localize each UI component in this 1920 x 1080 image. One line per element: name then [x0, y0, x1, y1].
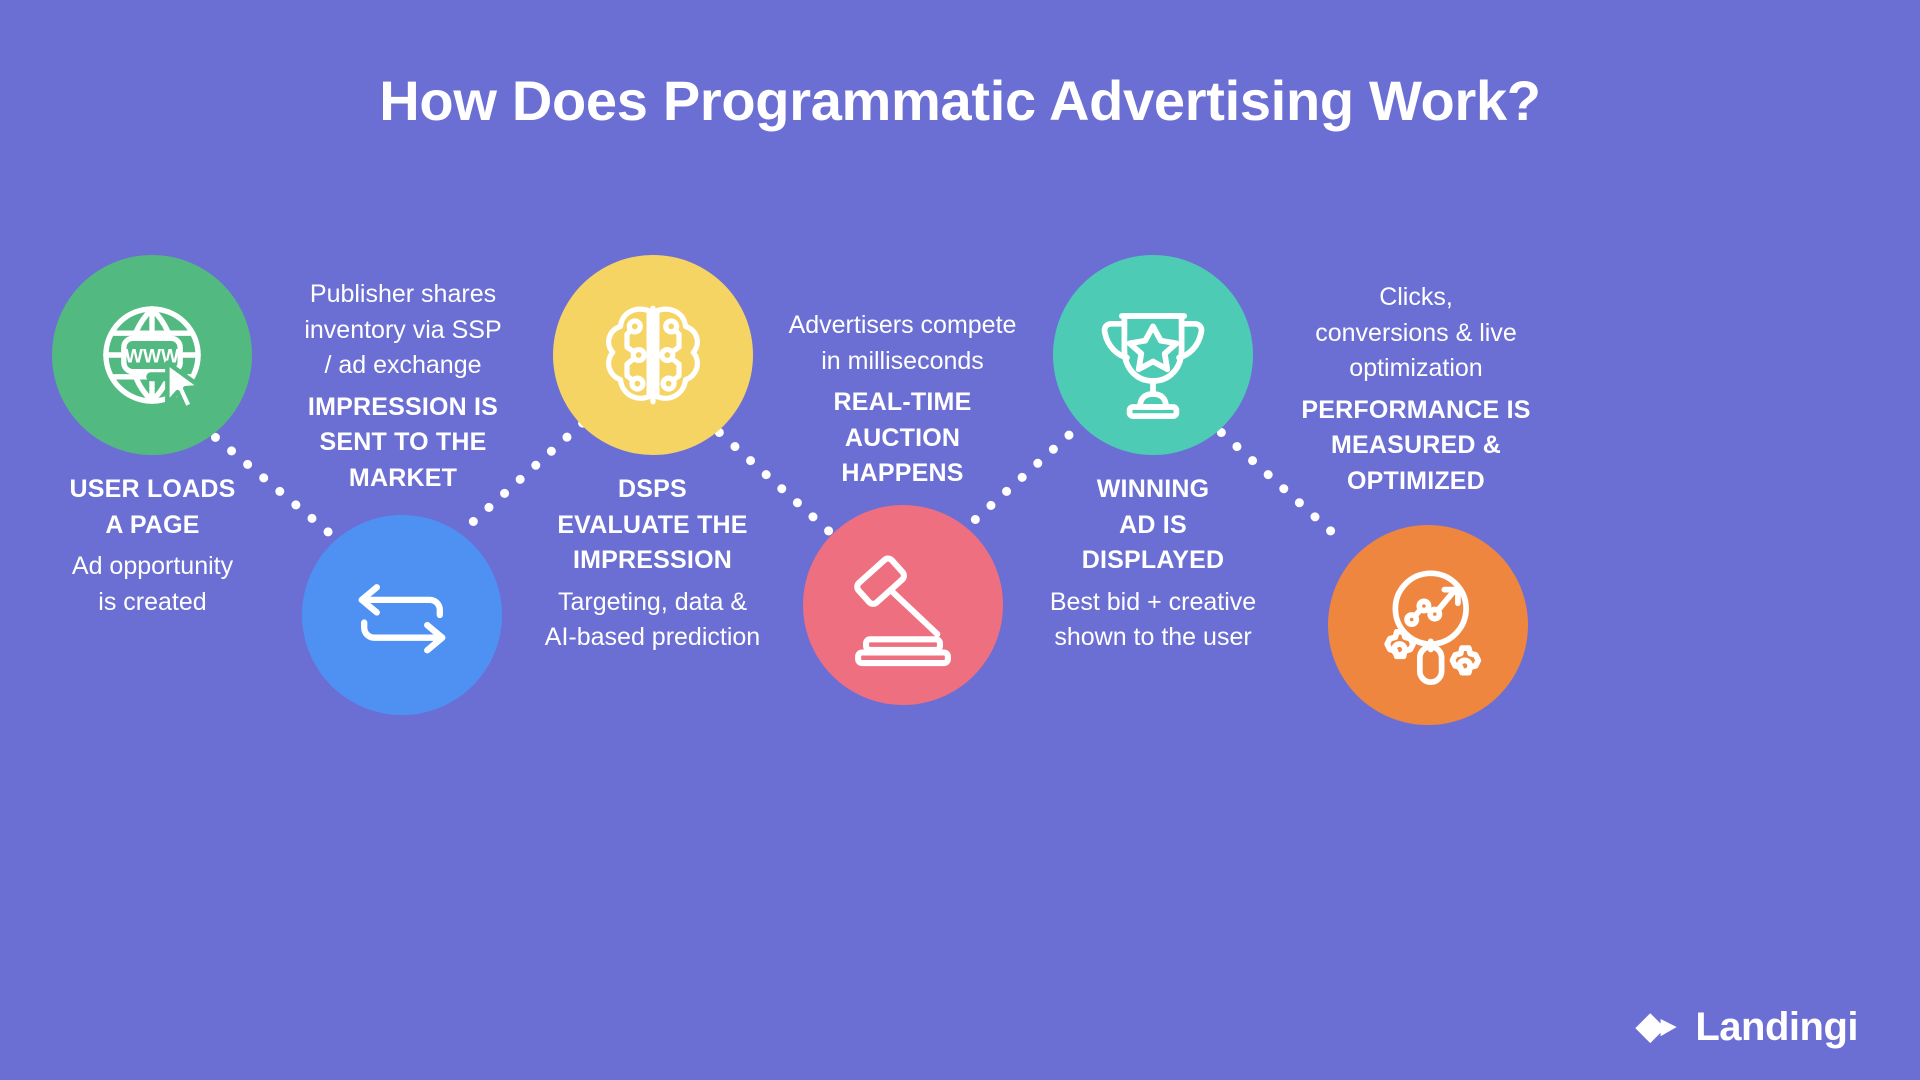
step-5-text: WINNING AD IS DISPLAYED Best bid + creat… — [1022, 472, 1284, 656]
step-6-headline-line3: OPTIMIZED — [1285, 464, 1547, 500]
step-6-sub-line3: optimization — [1285, 351, 1547, 387]
step-3-headline-line3: IMPRESSION — [520, 543, 785, 579]
trophy-star-icon — [1088, 290, 1218, 420]
step-5-sub-line1: Best bid + creative — [1022, 585, 1284, 621]
step-1-circle[interactable]: WWW — [52, 255, 252, 455]
step-4-text: Advertisers compete in milliseconds REAL… — [775, 308, 1030, 492]
step-2-headline-line1: IMPRESSION IS — [278, 390, 528, 426]
step-2-headline-line3: MARKET — [278, 461, 528, 497]
landingi-logo[interactable]: Landingi — [1633, 1004, 1858, 1050]
step-6-circle[interactable] — [1328, 525, 1528, 725]
step-1-text: USER LOADS A PAGE Ad opportunity is crea… — [10, 472, 295, 620]
step-5-headline-line3: DISPLAYED — [1022, 543, 1284, 579]
page-title: How Does Programmatic Advertising Work? — [0, 68, 1920, 133]
step-2-circle[interactable] — [302, 515, 502, 715]
infographic-canvas: How Does Programmatic Advertising Work? … — [0, 0, 1920, 1080]
step-2-text: Publisher shares inventory via SSP / ad … — [278, 277, 528, 496]
step-6-sub-line1: Clicks, — [1285, 280, 1547, 316]
globe-www-cursor-icon: WWW — [88, 291, 216, 419]
ai-brain-circuit-icon — [588, 290, 718, 420]
auction-gavel-icon — [837, 539, 969, 671]
step-4-headline-line1: REAL-TIME — [775, 385, 1030, 421]
diamond-arrow-icon — [1633, 1004, 1679, 1050]
step-4-headline-line3: HAPPENS — [775, 456, 1030, 492]
step-6-headline-line1: PERFORMANCE IS — [1285, 393, 1547, 429]
performance-magnifier-gears-icon — [1360, 557, 1496, 693]
step-1-headline-line1: USER LOADS — [10, 472, 295, 508]
step-5-headline-line2: AD IS — [1022, 508, 1284, 544]
step-1-sub-line1: Ad opportunity — [10, 549, 295, 585]
exchange-arrows-icon — [339, 552, 465, 678]
step-4-circle[interactable] — [803, 505, 1003, 705]
step-6-text: Clicks, conversions & live optimization … — [1285, 280, 1547, 499]
step-5-sub-line2: shown to the user — [1022, 620, 1284, 656]
step-2-sub-line1: Publisher shares — [278, 277, 528, 313]
step-3-sub-line2: AI-based prediction — [520, 620, 785, 656]
step-1-headline-line2: A PAGE — [10, 508, 295, 544]
step-3-circle[interactable] — [553, 255, 753, 455]
step-4-sub-line1: Advertisers compete — [775, 308, 1030, 344]
step-3-sub-line1: Targeting, data & — [520, 585, 785, 621]
step-2-sub-line3: / ad exchange — [278, 348, 528, 384]
step-3-headline-line1: DSPS — [520, 472, 785, 508]
step-4-headline-line2: AUCTION — [775, 421, 1030, 457]
step-4-sub-line2: in milliseconds — [775, 344, 1030, 380]
step-1-sub-line2: is created — [10, 585, 295, 621]
step-2-headline-line2: SENT TO THE — [278, 425, 528, 461]
step-2-sub-line2: inventory via SSP — [278, 313, 528, 349]
step-5-headline-line1: WINNING — [1022, 472, 1284, 508]
step-5-circle[interactable] — [1053, 255, 1253, 455]
step-3-text: DSPS EVALUATE THE IMPRESSION Targeting, … — [520, 472, 785, 656]
step-3-headline-line2: EVALUATE THE — [520, 508, 785, 544]
step-6-headline-line2: MEASURED & — [1285, 428, 1547, 464]
step-6-sub-line2: conversions & live — [1285, 316, 1547, 352]
landingi-logo-text: Landingi — [1695, 1005, 1858, 1050]
